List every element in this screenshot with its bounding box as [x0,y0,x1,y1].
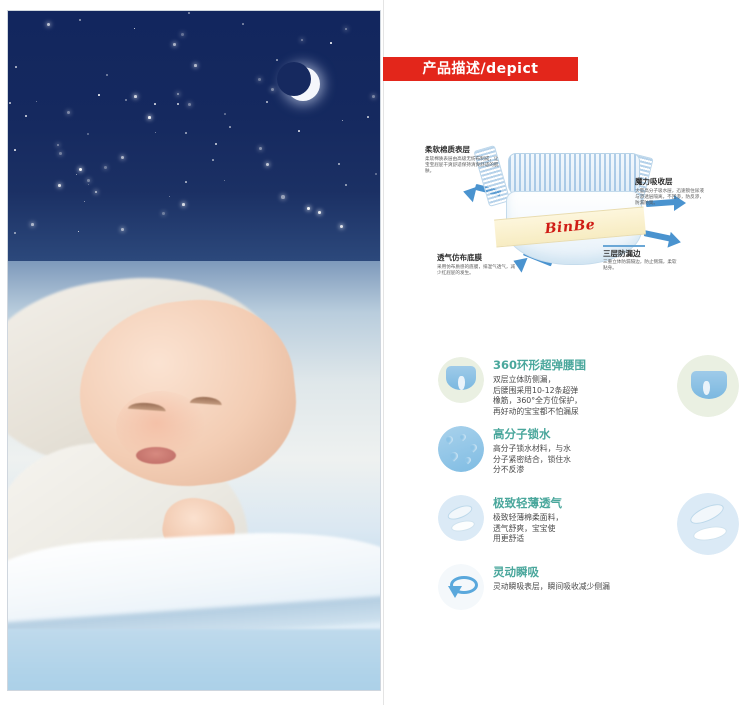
feature-title: 灵动瞬吸 [493,565,743,580]
arrow-left-head [461,184,477,202]
feature-title: 高分子锁水 [493,427,743,442]
brand-logo: BinBe [544,217,596,237]
feature-item-elastic-waist: 360环形超弹腰围 双层立体防侧漏， 后腰围采用10-12条超弹 橡筋，360°… [438,355,743,417]
feature-desc: 高分子锁水材料，与水 分子紧密结合，锁住水 分不反渗 [493,444,743,476]
label-desc: 大量高分子吸水层，迅速锁住尿液与渗透层隔离，不回渗，防反渗，防漏防臭。 [635,189,707,207]
label-title: 魔力吸收层 [635,177,707,187]
label-title: 三层防漏边 [603,249,679,259]
label-desc: 柔软棉质表层由高级无纺布制成，让宝宝屁屁干爽舒适保持清爽舒适的肌肤。 [425,157,499,175]
feature-item-polymer-lock-water: 高分子锁水 高分子锁水材料，与水 分子紧密结合，锁住水 分不反渗 [438,424,743,486]
feature-art-breathable [677,493,739,555]
diaper-structure-diagram: BinBe 柔软棉质表层 柔软棉质表层由高级无纺布制成，让宝宝屁屁干爽舒适保持清… [403,125,733,295]
blue-sheet [7,629,381,691]
label-desc: 采用仿布质感的底膜，排湿气透气，减少红屁屁的发生。 [437,265,517,277]
swirl-absorb-icon [438,564,484,610]
label-desc: 三重立体防漏隔边，防止侧漏，柔软贴身。 [603,260,679,272]
label-title: 柔软棉质表层 [425,145,499,155]
feature-desc: 灵动瞬吸表层，瞬间吸收减少侧漏 [493,582,743,593]
label-breathable-cloth-film: 透气仿布底膜 采用仿布质感的底膜，排湿气透气，减少红屁屁的发生。 [437,253,517,277]
diaper-pants-icon [438,357,484,403]
label-magic-absorb-layer: 魔力吸收层 大量高分子吸水层，迅速锁住尿液与渗透层隔离，不回渗，防反渗，防漏防臭… [635,177,707,207]
crescent-moon-icon [286,67,320,101]
label-triple-leak-guard: 三层防漏边 三重立体防漏隔边，防止侧漏，柔软贴身。 [603,245,679,272]
feather-breathable-icon [438,495,484,541]
section-banner: 产品描述/depict [383,57,578,81]
baby-mouth [136,447,176,464]
water-droplets-icon [438,426,484,472]
right-content-panel: 产品描述/depict Bin [383,0,750,705]
feature-art-elastic-waist [677,355,739,417]
section-banner-label: 产品描述/depict [383,57,578,81]
sleeping-baby-night-photo [7,10,381,691]
panel-divider [383,0,384,705]
feature-list: 360环形超弹腰围 双层立体防侧漏， 后腰围采用10-12条超弹 橡筋，360°… [438,355,743,617]
label-underline [603,245,645,247]
feature-item-ultra-thin-breathable: 极致轻薄透气 极致轻薄棉柔面料， 透气舒爽，宝宝使 用更舒适 [438,493,743,555]
feature-item-instant-absorb: 灵动瞬吸 灵动瞬吸表层，瞬间吸收减少侧漏 [438,562,743,610]
product-detail-page: 产品描述/depict Bin [0,0,750,705]
label-soft-cotton-surface: 柔软棉质表层 柔软棉质表层由高级无纺布制成，让宝宝屁屁干爽舒适保持清爽舒适的肌肤… [425,145,499,175]
label-title: 透气仿布底膜 [437,253,517,263]
